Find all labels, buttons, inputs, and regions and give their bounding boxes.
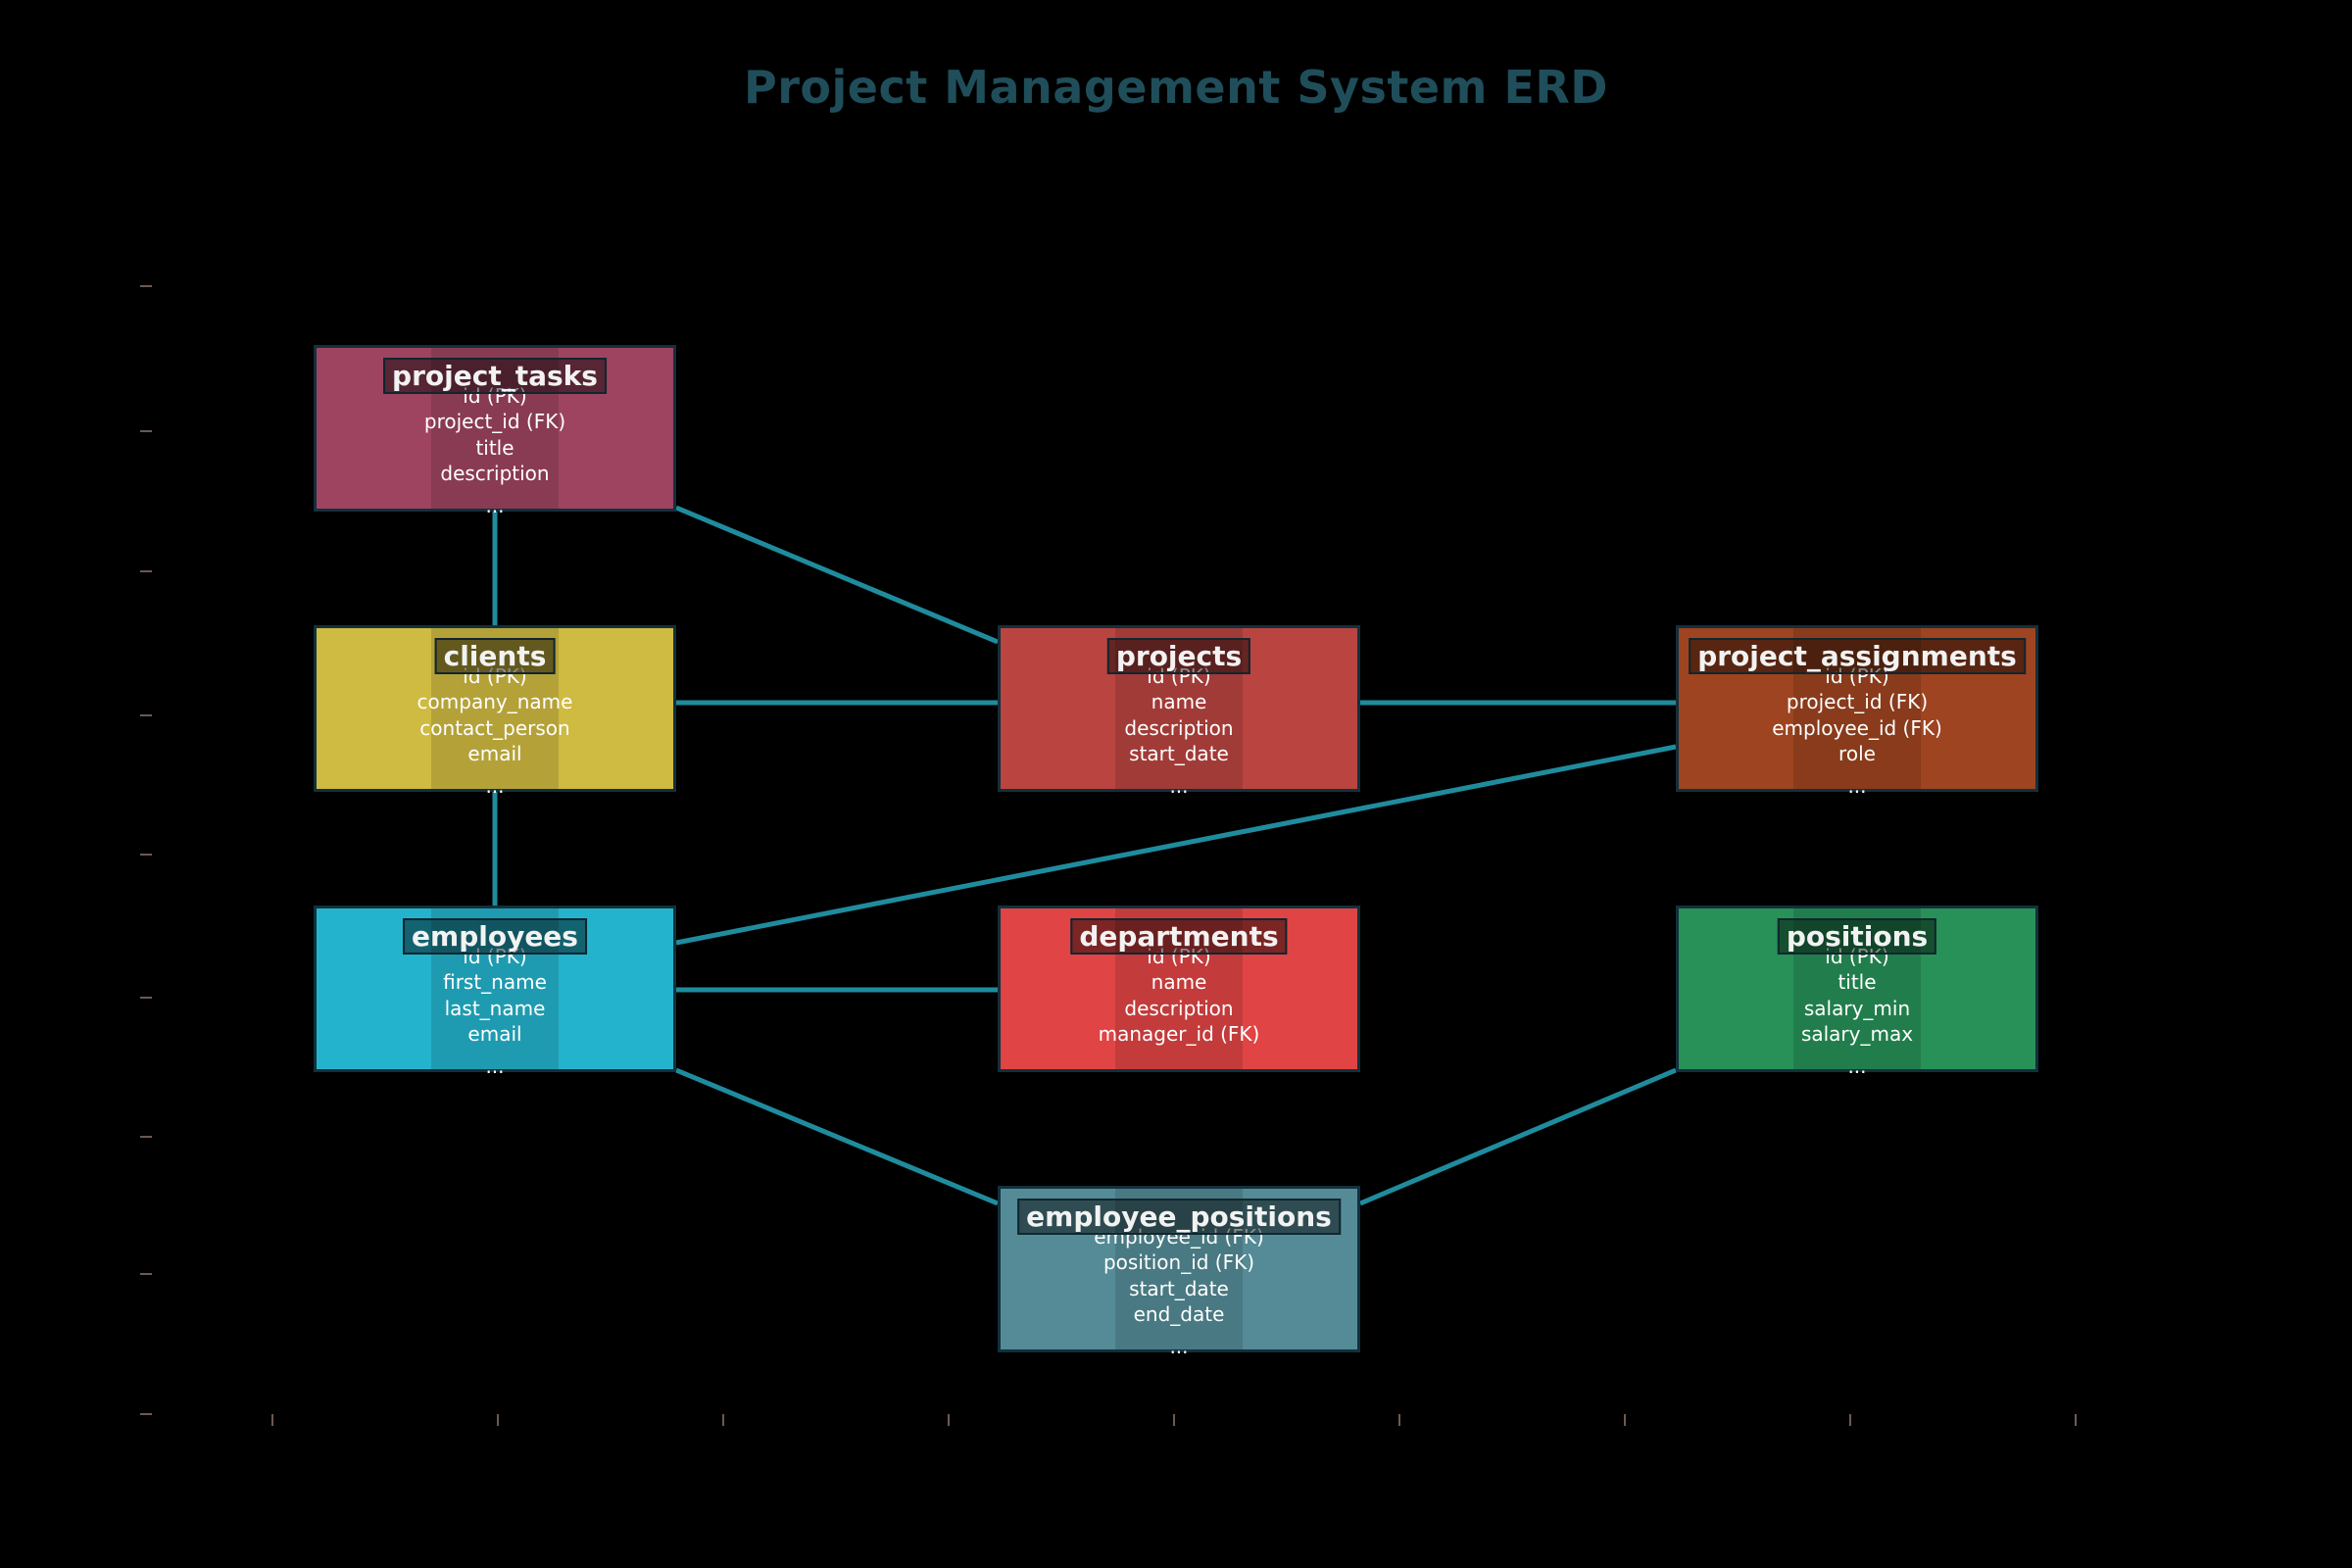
entity-field: ... xyxy=(1001,1328,1357,1359)
entity-field: title xyxy=(1679,969,2035,995)
entity-field: employee_id (FK) xyxy=(1679,715,2035,741)
entity-fields-project_tasks: id (PK)project_id (FK)titledescription..… xyxy=(317,383,673,518)
entity-field: start_date xyxy=(1001,1276,1357,1301)
entity-projects[interactable]: projectsid (PK)namedescriptionstart_date… xyxy=(998,625,1360,792)
erd-canvas: Project Management System ERD project_ta… xyxy=(0,0,2352,1568)
entity-fields-clients: id (PK)company_namecontact_personemail..… xyxy=(317,663,673,799)
entity-field: end_date xyxy=(1001,1301,1357,1327)
entity-fields-projects: id (PK)namedescriptionstart_date... xyxy=(1001,663,1357,799)
entity-field: role xyxy=(1679,741,2035,766)
entity-field: contact_person xyxy=(317,715,673,741)
entity-positions[interactable]: positionsid (PK)titlesalary_minsalary_ma… xyxy=(1676,906,2038,1072)
entity-employee_positions[interactable]: employee_positionsemployee_id (FK)positi… xyxy=(998,1186,1360,1352)
entity-fields-employees: id (PK)first_namelast_nameemail... xyxy=(317,944,673,1079)
entity-field: company_name xyxy=(317,689,673,714)
entity-field: salary_min xyxy=(1679,996,2035,1021)
entity-title-employees: employees xyxy=(403,918,587,955)
entity-field: description xyxy=(1001,715,1357,741)
entity-field: ... xyxy=(317,767,673,799)
entity-field: ... xyxy=(1001,767,1357,799)
entity-project_assignments[interactable]: project_assignmentsid (PK)project_id (FK… xyxy=(1676,625,2038,792)
relationship-line-employees-to-employee_positions xyxy=(676,1070,998,1203)
relationship-line-project_tasks-to-projects xyxy=(676,508,998,642)
entity-field: description xyxy=(317,461,673,486)
entity-fields-project_assignments: id (PK)project_id (FK)employee_id (FK)ro… xyxy=(1679,663,2035,799)
entity-field: title xyxy=(317,435,673,461)
entity-title-positions: positions xyxy=(1778,918,1936,955)
entity-title-clients: clients xyxy=(435,638,556,674)
entity-title-projects: projects xyxy=(1107,638,1250,674)
entity-title-project_tasks: project_tasks xyxy=(383,358,607,394)
entity-field: start_date xyxy=(1001,741,1357,766)
entity-field: manager_id (FK) xyxy=(1001,1021,1357,1047)
entity-field: position_id (FK) xyxy=(1001,1249,1357,1275)
entity-title-project_assignments: project_assignments xyxy=(1689,638,2026,674)
entity-field: email xyxy=(317,1021,673,1047)
entity-field: ... xyxy=(1679,1048,2035,1079)
relationship-line-positions-to-employee_positions xyxy=(1360,1070,1676,1203)
entity-field: name xyxy=(1001,689,1357,714)
entity-field: last_name xyxy=(317,996,673,1021)
entity-field: project_id (FK) xyxy=(1679,689,2035,714)
entity-field: salary_max xyxy=(1679,1021,2035,1047)
entity-field: project_id (FK) xyxy=(317,409,673,434)
entity-employees[interactable]: employeesid (PK)first_namelast_nameemail… xyxy=(314,906,676,1072)
entity-fields-departments: id (PK)namedescriptionmanager_id (FK) xyxy=(1001,944,1357,1048)
entity-field: ... xyxy=(317,487,673,518)
entity-field: email xyxy=(317,741,673,766)
entity-fields-employee_positions: employee_id (FK)position_id (FK)start_da… xyxy=(1001,1224,1357,1359)
entity-fields-positions: id (PK)titlesalary_minsalary_max... xyxy=(1679,944,2035,1079)
entity-title-employee_positions: employee_positions xyxy=(1017,1199,1341,1235)
entity-field: name xyxy=(1001,969,1357,995)
entity-title-departments: departments xyxy=(1070,918,1287,955)
entity-departments[interactable]: departmentsid (PK)namedescriptionmanager… xyxy=(998,906,1360,1072)
entity-field: ... xyxy=(317,1048,673,1079)
entity-project_tasks[interactable]: project_tasksid (PK)project_id (FK)title… xyxy=(314,345,676,512)
entity-field: ... xyxy=(1679,767,2035,799)
entity-field: description xyxy=(1001,996,1357,1021)
page-title: Project Management System ERD xyxy=(0,61,2352,114)
entity-field: first_name xyxy=(317,969,673,995)
entity-clients[interactable]: clientsid (PK)company_namecontact_person… xyxy=(314,625,676,792)
